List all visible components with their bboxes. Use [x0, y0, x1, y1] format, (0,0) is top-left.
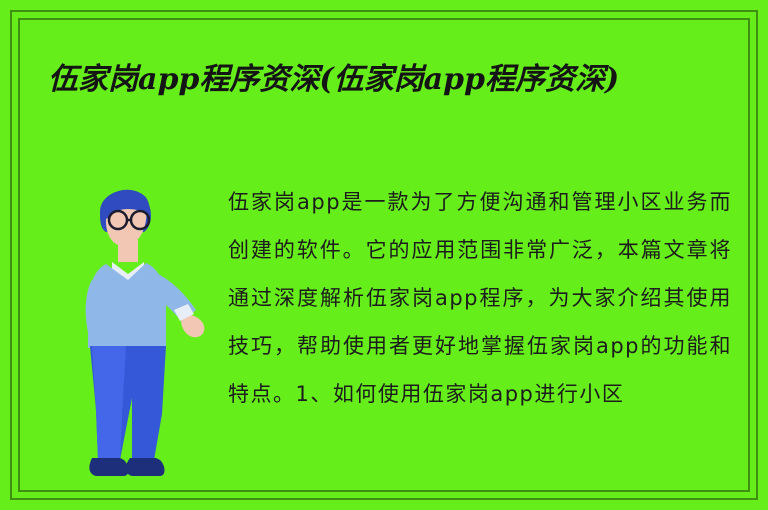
article-body: 伍家岗app是一款为了方便沟通和管理小区业务而创建的软件。它的应用范围非常广泛，…: [228, 178, 732, 418]
page-root: 伍家岗app程序资深(伍家岗app程序资深): [0, 0, 768, 510]
person-pointing-illustration: [62, 170, 212, 490]
left-shoe-shape: [89, 458, 128, 476]
page-title: 伍家岗app程序资深(伍家岗app程序资深): [48, 58, 724, 102]
right-shoe-shape: [126, 458, 165, 476]
